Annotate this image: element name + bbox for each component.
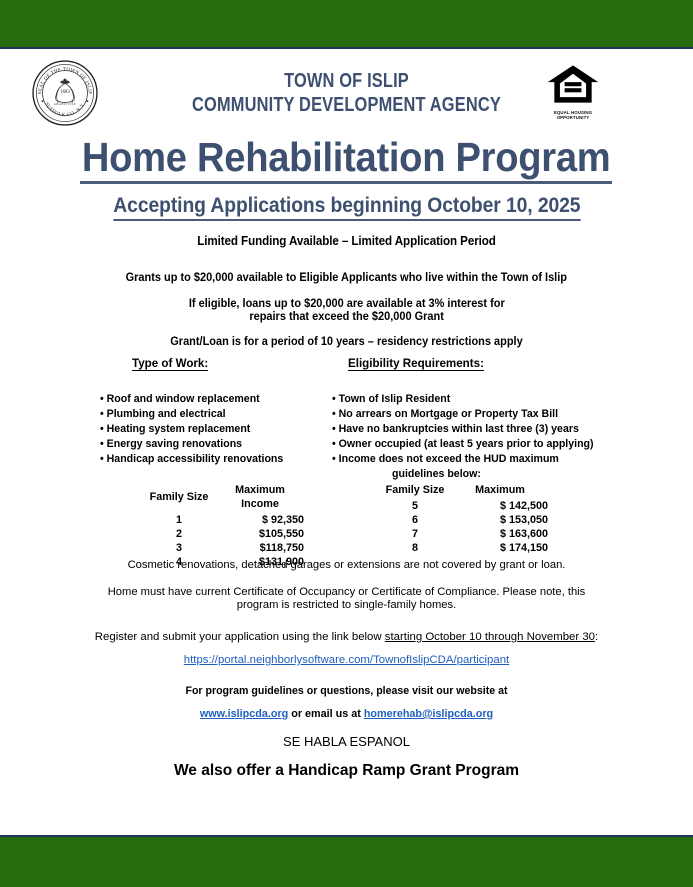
eligibility-column: Eligibility Requirements: Town of Islip …: [330, 357, 620, 482]
certificate-note-line-1: Home must have current Certificate of Oc…: [108, 586, 586, 598]
hud-income-table: Family Size Maximum Income 1 $ 92,350 2 …: [0, 484, 693, 546]
cell-family-size: 6: [378, 513, 452, 527]
cell-maximum-income: $ 153,050: [452, 513, 548, 527]
type-of-work-heading-text: Type of Work:: [132, 357, 208, 371]
list-item: Handicap accessibility renovations: [100, 452, 330, 467]
se-habla-espanol-note: SE HABLA ESPANOL: [0, 734, 693, 749]
website-link[interactable]: www.islipcda.org: [200, 708, 288, 720]
list-item: Roof and window replacement: [100, 392, 330, 407]
column-header-family-size: Family Size: [142, 484, 216, 513]
page-title-text: Home Rehabilitation Program: [80, 136, 612, 184]
column-header-maximum-income: Maximum Income: [216, 484, 304, 513]
cell-maximum-income: $ 142,500: [452, 499, 548, 513]
header: SEAL OF THE TOWN OF ISLIP SUFFOLK CO. N.…: [0, 56, 693, 128]
eligibility-list: Town of Islip Resident No arrears on Mor…: [330, 392, 620, 467]
list-item: Income does not exceed the HUD maximum: [332, 452, 620, 467]
list-item: Heating system replacement: [100, 422, 330, 437]
table-row: 1 $ 92,350: [142, 513, 304, 527]
cell-family-size: 3: [142, 541, 216, 555]
flyer-page: SEAL OF THE TOWN OF ISLIP SUFFOLK CO. N.…: [0, 0, 693, 887]
type-of-work-heading: Type of Work:: [100, 357, 330, 371]
contact-row: www.islipcda.org or email us at homereha…: [0, 708, 693, 720]
list-item: No arrears on Mortgage or Property Tax B…: [332, 407, 620, 422]
equal-housing-caption: EQUAL HOUSING OPPORTUNITY: [543, 110, 603, 120]
list-item: Energy saving renovations: [100, 437, 330, 452]
contact-join-text: or email us at: [288, 708, 364, 720]
eligibility-guidelines-continuation: guidelines below:: [330, 467, 620, 482]
table-header-row: Family Size Maximum: [378, 484, 548, 499]
page-subtitle: Accepting Applications beginning October…: [0, 194, 693, 221]
table-row: 7 $ 163,600: [378, 527, 548, 541]
certificate-note-line-2: program is restricted to single-family h…: [237, 599, 456, 611]
loans-statement-line-2: repairs that exceed the $20,000 Grant: [249, 310, 444, 323]
income-table-right: Family Size Maximum 5 $ 142,500 6 $ 153,…: [378, 484, 548, 555]
certificate-note: Home must have current Certificate of Oc…: [0, 586, 693, 612]
table-row: 2 $105,550: [142, 527, 304, 541]
cell-family-size: 8: [378, 541, 452, 555]
limited-funding-text: Limited Funding Available – Limited Appl…: [197, 234, 496, 248]
list-item: Plumbing and electrical: [100, 407, 330, 422]
cell-family-size: 1: [142, 513, 216, 527]
top-green-band: [0, 0, 693, 49]
email-link[interactable]: homerehab@islipcda.org: [364, 708, 493, 720]
cell-maximum-income: $ 174,150: [452, 541, 548, 555]
cell-maximum-income: $ 163,600: [452, 527, 548, 541]
bottom-green-band: [0, 835, 693, 887]
table-header-row: Family Size Maximum Income: [142, 484, 304, 513]
eligibility-heading-text: Eligibility Requirements:: [348, 357, 484, 371]
cell-family-size: 5: [378, 499, 452, 513]
program-guidelines-note: For program guidelines or questions, ple…: [0, 685, 693, 697]
register-instruction-dates: starting October 10 through November 30: [385, 631, 595, 643]
cell-maximum-income: $ 92,350: [216, 513, 304, 527]
cell-maximum-income: $118,750: [216, 541, 304, 555]
equal-housing-opportunity-icon: EQUAL HOUSING OPPORTUNITY: [543, 63, 603, 121]
income-table-left: Family Size Maximum Income 1 $ 92,350 2 …: [142, 484, 304, 569]
table-row: 5 $ 142,500: [378, 499, 548, 513]
eligibility-heading: Eligibility Requirements:: [330, 357, 620, 371]
table-row: 6 $ 153,050: [378, 513, 548, 527]
portal-application-link[interactable]: https://portal.neighborlysoftware.com/To…: [184, 654, 509, 666]
cell-maximum-income: $105,550: [216, 527, 304, 541]
list-item: Have no bankruptcies within last three (…: [332, 422, 620, 437]
register-instruction-prefix: Register and submit your application usi…: [95, 631, 382, 643]
column-header-maximum: Maximum: [452, 484, 548, 499]
grants-statement: Grants up to $20,000 available to Eligib…: [0, 270, 693, 284]
cell-family-size: 2: [142, 527, 216, 541]
cell-family-size: 7: [378, 527, 452, 541]
table-row: 8 $ 174,150: [378, 541, 548, 555]
portal-link-row: https://portal.neighborlysoftware.com/To…: [0, 654, 693, 666]
term-statement: Grant/Loan is for a period of 10 years –…: [0, 334, 693, 348]
column-header-family-size: Family Size: [378, 484, 452, 499]
grants-statement-text: Grants up to $20,000 available to Eligib…: [126, 270, 567, 284]
list-item: Owner occupied (at least 5 years prior t…: [332, 437, 620, 452]
fh-caption-line-2: OPPORTUNITY: [543, 115, 603, 120]
term-statement-text: Grant/Loan is for a period of 10 years –…: [170, 334, 522, 348]
type-of-work-column: Type of Work: Roof and window replacemen…: [100, 357, 330, 467]
limited-funding-note: Limited Funding Available – Limited Appl…: [0, 234, 693, 248]
cosmetic-exclusion-note: Cosmetic renovations, detached garages o…: [0, 559, 693, 571]
type-of-work-list: Roof and window replacement Plumbing and…: [100, 392, 330, 467]
register-instruction: Register and submit your application usi…: [0, 631, 693, 643]
page-subtitle-text: Accepting Applications beginning October…: [113, 194, 580, 221]
register-instruction-suffix: :: [595, 631, 598, 643]
handicap-ramp-program-note: We also offer a Handicap Ramp Grant Prog…: [0, 762, 693, 780]
table-row: 3 $118,750: [142, 541, 304, 555]
page-title: Home Rehabilitation Program: [0, 136, 693, 184]
loans-statement: If eligible, loans up to $20,000 are ava…: [0, 297, 693, 323]
list-item: Town of Islip Resident: [332, 392, 620, 407]
